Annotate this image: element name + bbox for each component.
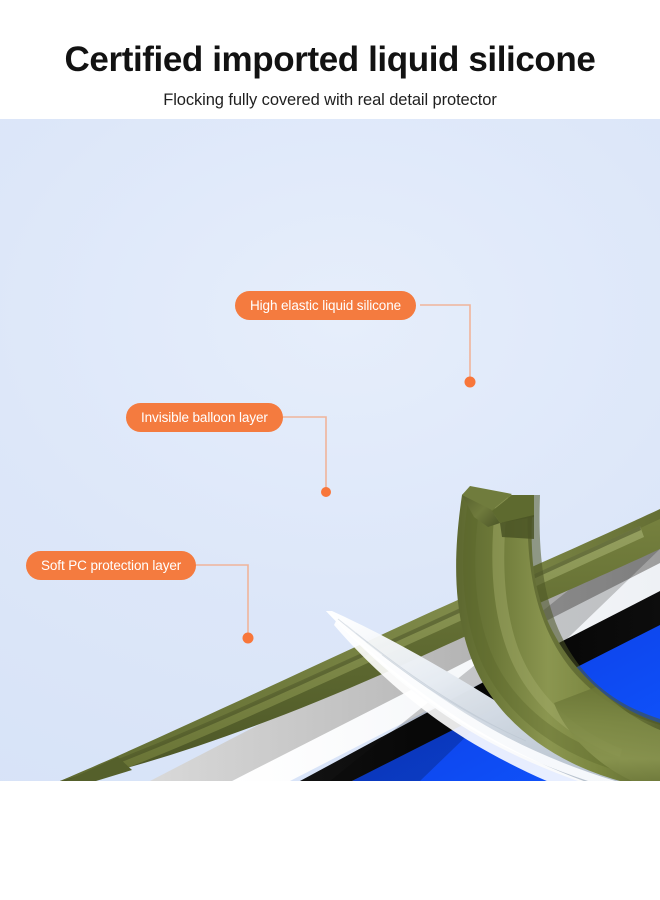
- header-block: Certified imported liquid silicone Flock…: [0, 0, 660, 110]
- product-infographic: High elastic liquid silicone Invisible b…: [0, 0, 660, 900]
- product-cutaway-illustration: [0, 119, 660, 781]
- callout-label: Invisible balloon layer: [141, 410, 268, 425]
- callout-high-elastic-liquid-silicone[interactable]: High elastic liquid silicone: [235, 291, 416, 320]
- illustration-panel: [0, 119, 660, 781]
- callout-label: High elastic liquid silicone: [250, 298, 401, 313]
- callout-label: Soft PC protection layer: [41, 558, 181, 573]
- callout-invisible-balloon-layer[interactable]: Invisible balloon layer: [126, 403, 283, 432]
- callout-soft-pc-protection-layer[interactable]: Soft PC protection layer: [26, 551, 196, 580]
- page-subtitle: Flocking fully covered with real detail …: [0, 78, 660, 110]
- page-title: Certified imported liquid silicone: [0, 0, 660, 78]
